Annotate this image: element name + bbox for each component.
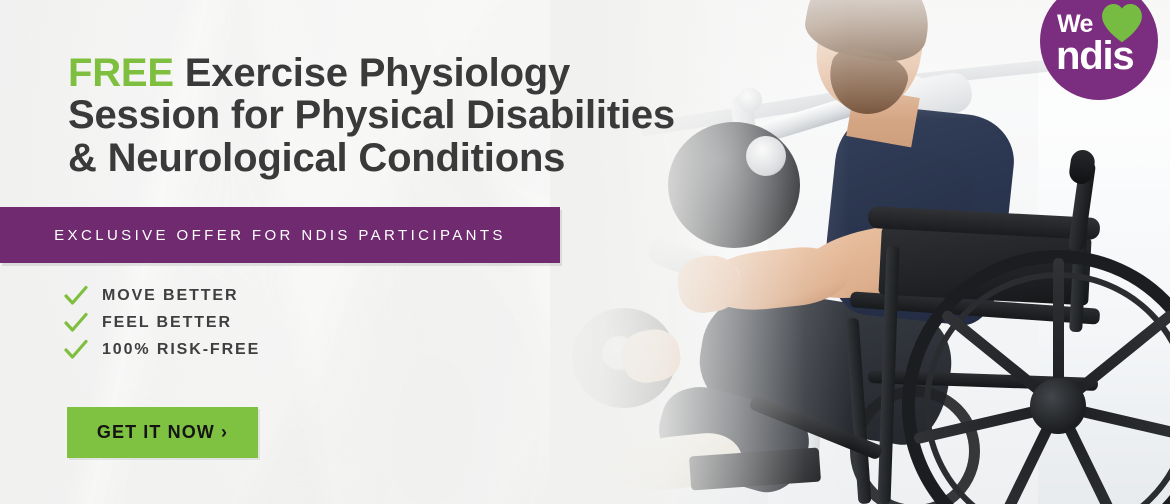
check-icon xyxy=(64,339,88,361)
headline-line3: & Neurological Conditions xyxy=(68,136,565,180)
benefits-list: MOVE BETTER FEEL BETTER 100% RISK-FREE xyxy=(64,283,260,364)
benefit-label: MOVE BETTER xyxy=(102,287,238,305)
promo-banner: FREE Exercise Physiology Session for Phy… xyxy=(0,0,1170,504)
headline-line2: Session for Physical Disabilities xyxy=(68,93,675,137)
headline-line1-rest: Exercise Physiology xyxy=(174,51,570,95)
banner-content: FREE Exercise Physiology Session for Phy… xyxy=(0,0,1170,504)
check-icon xyxy=(64,285,88,307)
headline-highlight: FREE xyxy=(68,51,174,95)
offer-banner-text: EXCLUSIVE OFFER FOR NDIS PARTICIPANTS xyxy=(54,227,506,244)
ndis-logo-name-text: ndis xyxy=(1056,34,1133,79)
benefit-label: FEEL BETTER xyxy=(102,314,232,332)
offer-banner: EXCLUSIVE OFFER FOR NDIS PARTICIPANTS xyxy=(0,207,560,263)
benefit-label: 100% RISK-FREE xyxy=(102,341,260,359)
list-item: 100% RISK-FREE xyxy=(64,337,260,362)
check-icon xyxy=(64,312,88,334)
get-it-now-button-label: GET IT NOW › xyxy=(97,422,228,443)
list-item: FEEL BETTER xyxy=(64,310,260,335)
list-item: MOVE BETTER xyxy=(64,283,260,308)
get-it-now-button[interactable]: GET IT NOW › xyxy=(67,407,258,458)
page-title: FREE Exercise Physiology Session for Phy… xyxy=(68,52,678,179)
